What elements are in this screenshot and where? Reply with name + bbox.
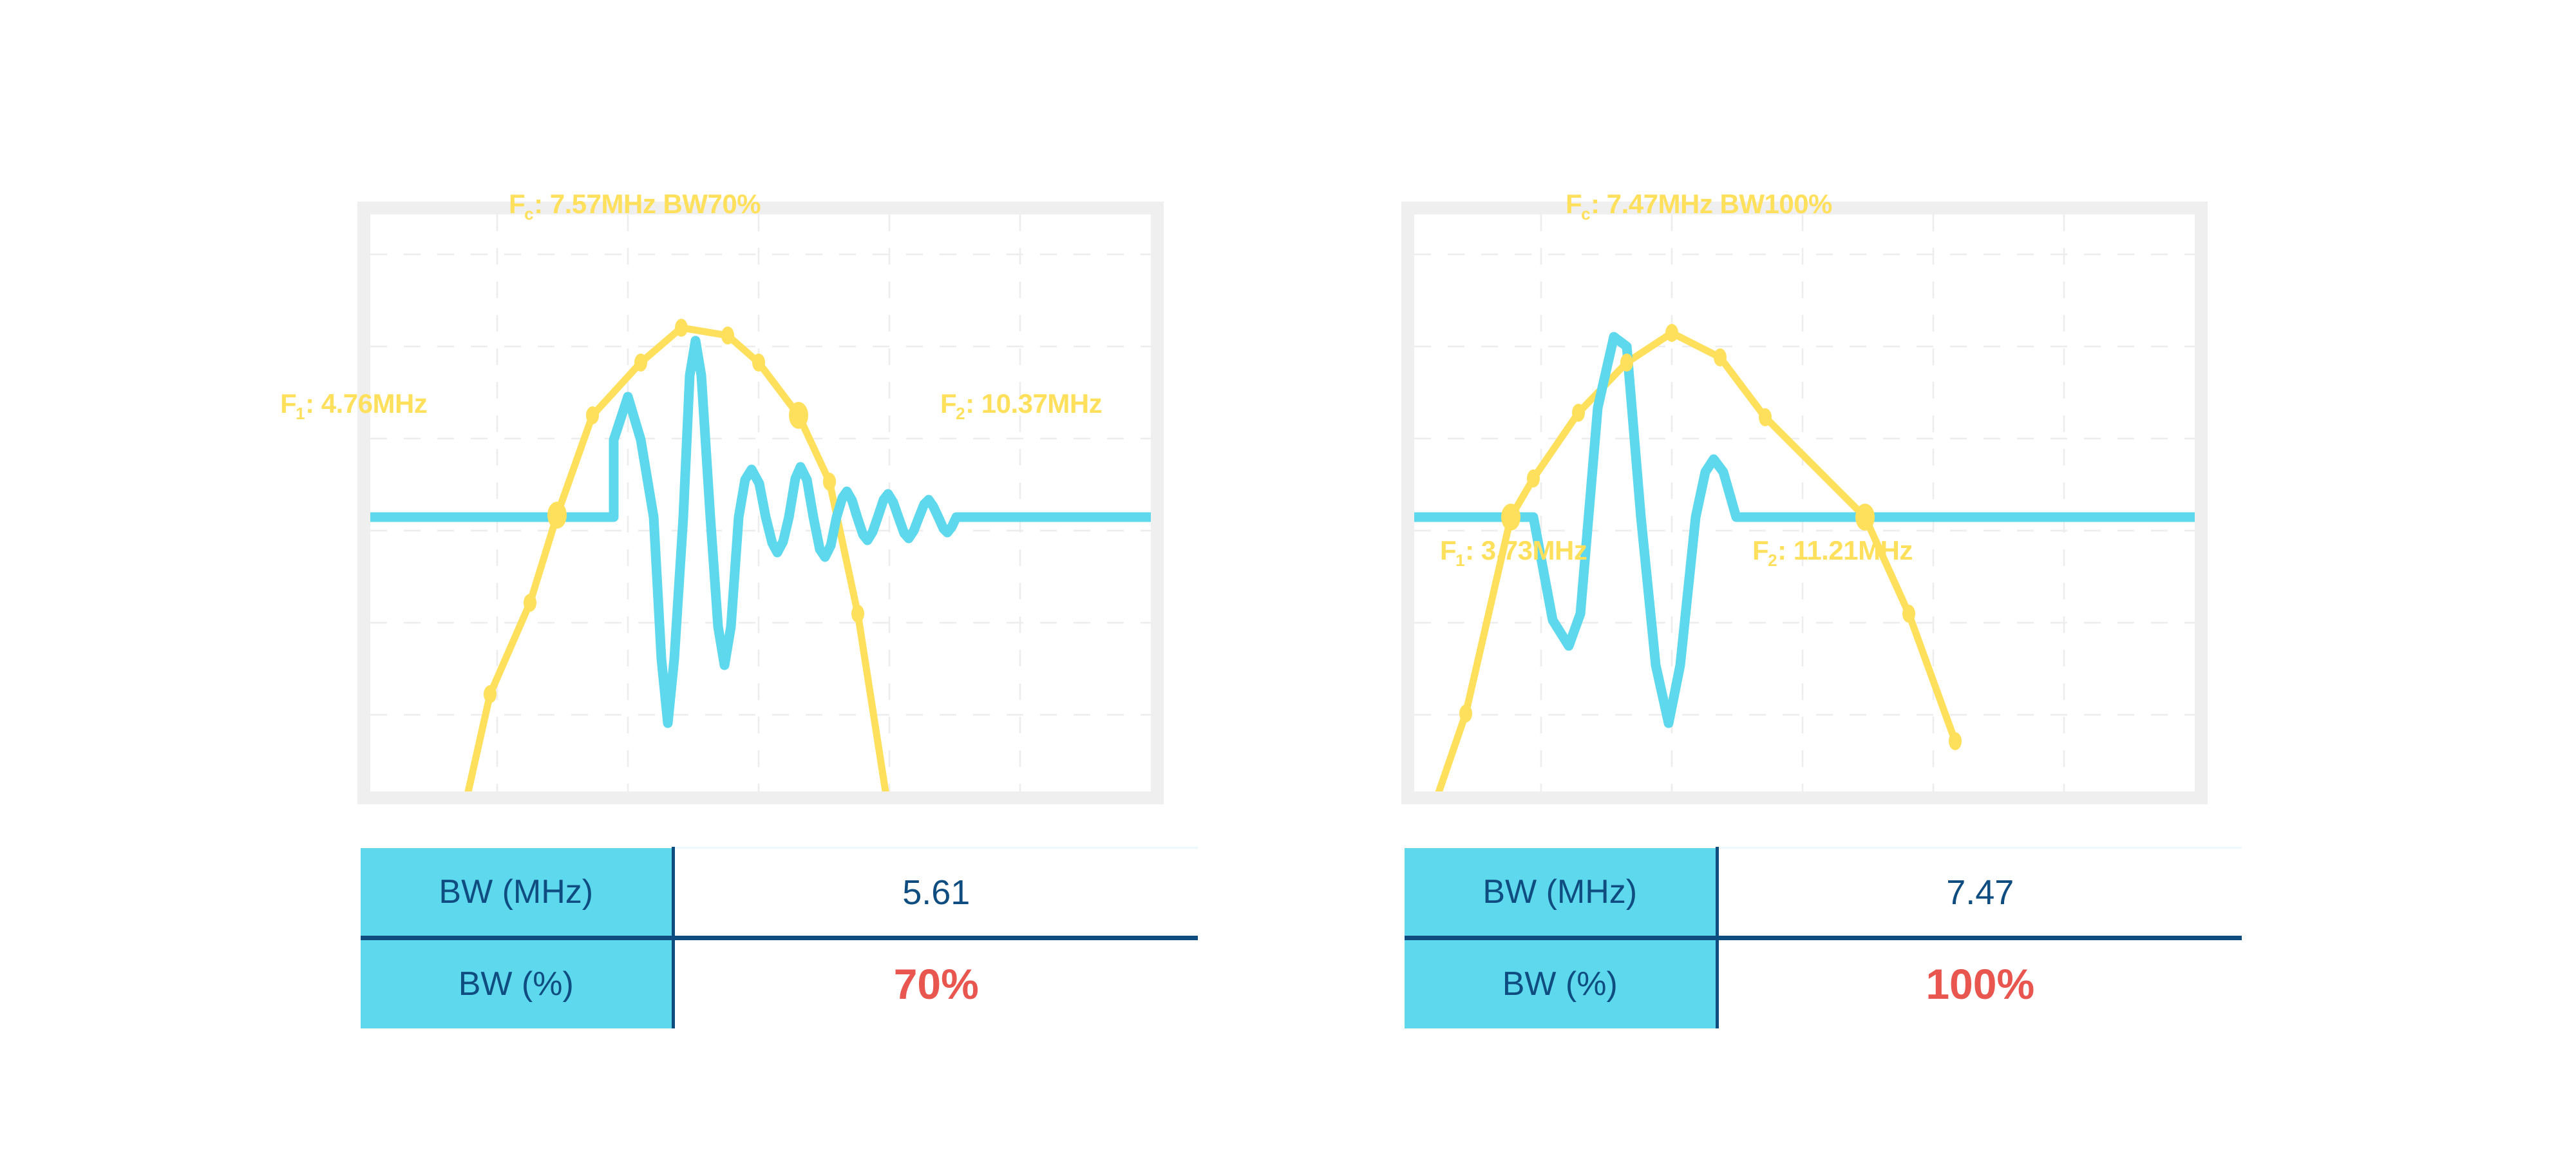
spectrum-data-point (1527, 469, 1540, 487)
label-center-frequency: Fc: 7.57MHz BW70% (509, 189, 761, 220)
spectrum-data-point (524, 594, 536, 612)
spectrum-data-point (634, 354, 647, 372)
label-f-symbol: F (280, 388, 296, 419)
table-row: BW (%) 100% (1405, 938, 2242, 1028)
label-f-symbol: F (509, 189, 525, 219)
label-f-value: : 7.57MHz BW70% (534, 189, 761, 219)
spectrum-data-point (547, 502, 567, 529)
label-f-symbol: F (1752, 535, 1768, 565)
label-f-subscript: c (1581, 204, 1590, 223)
label-f-value: : 11.21MHz (1777, 535, 1913, 565)
label-f-value: : 4.76MHz (305, 388, 427, 419)
label-f-value: : 10.37MHz (965, 388, 1102, 419)
spectrum-data-point (1949, 732, 1962, 750)
label-f-subscript: c (524, 204, 533, 223)
row-value-bw-mhz: 5.61 (673, 848, 1198, 938)
spectrum-data-point (586, 406, 599, 424)
plot-area-right (1414, 214, 2195, 791)
label-upper-cutoff: F2: 10.37MHz (940, 388, 1102, 419)
label-f-subscript: 1 (296, 404, 305, 423)
spectrum-data-point (789, 402, 808, 429)
row-label-bw-percent: BW (%) (1405, 938, 1717, 1028)
spectrum-data-point (1459, 705, 1472, 723)
table-row: BW (MHz) 5.61 (361, 848, 1198, 938)
spectrum-data-point (1620, 354, 1633, 372)
spectrum-data-point (851, 605, 864, 623)
spectrum-data-point (675, 319, 688, 337)
spectrum-data-point (1902, 605, 1915, 623)
spectrum-plot-left (370, 214, 1151, 791)
plot-frame-left (357, 202, 1164, 804)
plot-frame-right (1401, 202, 2208, 804)
pulse-waveform-right (1414, 337, 2195, 723)
label-f-symbol: F (940, 388, 956, 419)
row-label-bw-mhz: BW (MHz) (1405, 848, 1717, 938)
table-row: BW (MHz) 7.47 (1405, 848, 2242, 938)
bw-table-right: BW (MHz) 7.47 BW (%) 100% (1405, 847, 2242, 1028)
bw-table-left: BW (MHz) 5.61 BW (%) 70% (361, 847, 1198, 1028)
spectrum-data-point (1501, 504, 1520, 531)
label-f-value: : 7.47MHz BW100% (1591, 189, 1832, 219)
spectrum-data-point (484, 685, 497, 703)
label-f-subscript: 2 (1768, 551, 1777, 570)
label-center-frequency: Fc: 7.47MHz BW100% (1566, 189, 1832, 220)
label-upper-cutoff: F2: 11.21MHz (1752, 535, 1913, 566)
label-f-symbol: F (1440, 535, 1456, 565)
label-f-value: : 3.73MHz (1465, 535, 1587, 565)
spectrum-data-point (721, 326, 734, 345)
label-lower-cutoff: F1: 3.73MHz (1440, 535, 1587, 566)
spectrum-data-point (1714, 348, 1727, 366)
spectrum-data-point (1759, 408, 1772, 426)
gridlines-right (1414, 214, 2195, 791)
spectrum-data-point (1572, 404, 1585, 422)
label-f-symbol: F (1566, 189, 1582, 219)
spectrum-data-point (752, 354, 765, 372)
plot-area-left (370, 214, 1151, 791)
figure-root: Fc: 7.57MHz BW70% F1: 4.76MHz F2: 10.37M… (0, 0, 2576, 1154)
label-lower-cutoff: F1: 4.76MHz (280, 388, 427, 419)
row-label-bw-percent: BW (%) (361, 938, 673, 1028)
row-label-bw-mhz: BW (MHz) (361, 848, 673, 938)
spectrum-plot-right (1414, 214, 2195, 791)
spectrum-data-point (1855, 504, 1875, 531)
row-value-bw-mhz: 7.47 (1717, 848, 2242, 938)
label-f-subscript: 1 (1455, 551, 1464, 570)
table-row: BW (%) 70% (361, 938, 1198, 1028)
spectrum-data-point (823, 473, 836, 491)
label-f-subscript: 2 (956, 404, 965, 423)
row-value-bw-percent: 100% (1717, 938, 2242, 1028)
row-value-bw-percent: 70% (673, 938, 1198, 1028)
spectrum-data-point (1665, 324, 1678, 342)
